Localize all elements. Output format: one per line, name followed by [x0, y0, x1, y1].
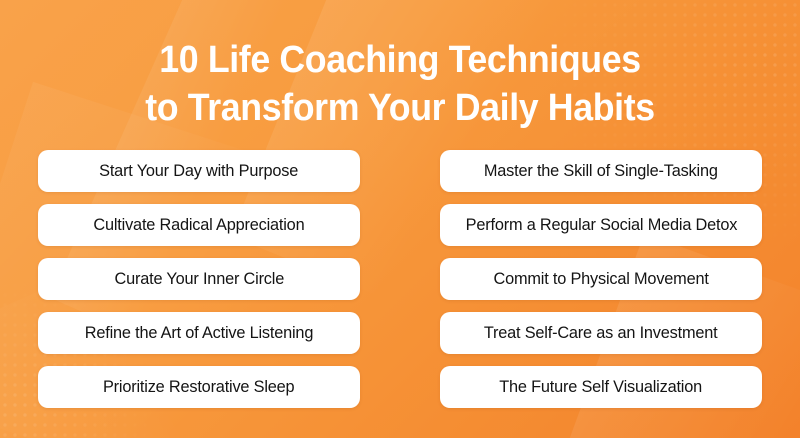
- list-item: Master the Skill of Single-Tasking: [440, 150, 762, 192]
- list-item-label: Prioritize Restorative Sleep: [103, 377, 294, 397]
- list-item-label: The Future Self Visualization: [500, 377, 703, 397]
- list-item: Curate Your Inner Circle: [38, 258, 360, 300]
- list-item-label: Cultivate Radical Appreciation: [93, 215, 304, 235]
- list-item-label: Start Your Day with Purpose: [100, 161, 299, 181]
- title-line-2: to Transform Your Daily Habits: [24, 84, 776, 132]
- poster-canvas: 10 Life Coaching Techniques to Transform…: [0, 0, 800, 438]
- list-item-label: Curate Your Inner Circle: [114, 269, 284, 289]
- list-item: Prioritize Restorative Sleep: [38, 366, 360, 408]
- list-item-label: Treat Self-Care as an Investment: [484, 323, 718, 343]
- list-item: Cultivate Radical Appreciation: [38, 204, 360, 246]
- list-item-label: Commit to Physical Movement: [493, 269, 708, 289]
- list-item: The Future Self Visualization: [440, 366, 762, 408]
- list-item: Treat Self-Care as an Investment: [440, 312, 762, 354]
- list-item-label: Refine the Art of Active Listening: [85, 323, 313, 343]
- list-item-label: Master the Skill of Single-Tasking: [484, 161, 718, 181]
- list-item: Perform a Regular Social Media Detox: [440, 204, 762, 246]
- technique-list: Start Your Day with Purpose Master the S…: [38, 150, 762, 408]
- list-item: Refine the Art of Active Listening: [38, 312, 360, 354]
- list-item-label: Perform a Regular Social Media Detox: [465, 215, 737, 235]
- list-item: Commit to Physical Movement: [440, 258, 762, 300]
- title-line-1: 10 Life Coaching Techniques: [24, 36, 776, 84]
- poster-title: 10 Life Coaching Techniques to Transform…: [0, 36, 800, 132]
- list-item: Start Your Day with Purpose: [38, 150, 360, 192]
